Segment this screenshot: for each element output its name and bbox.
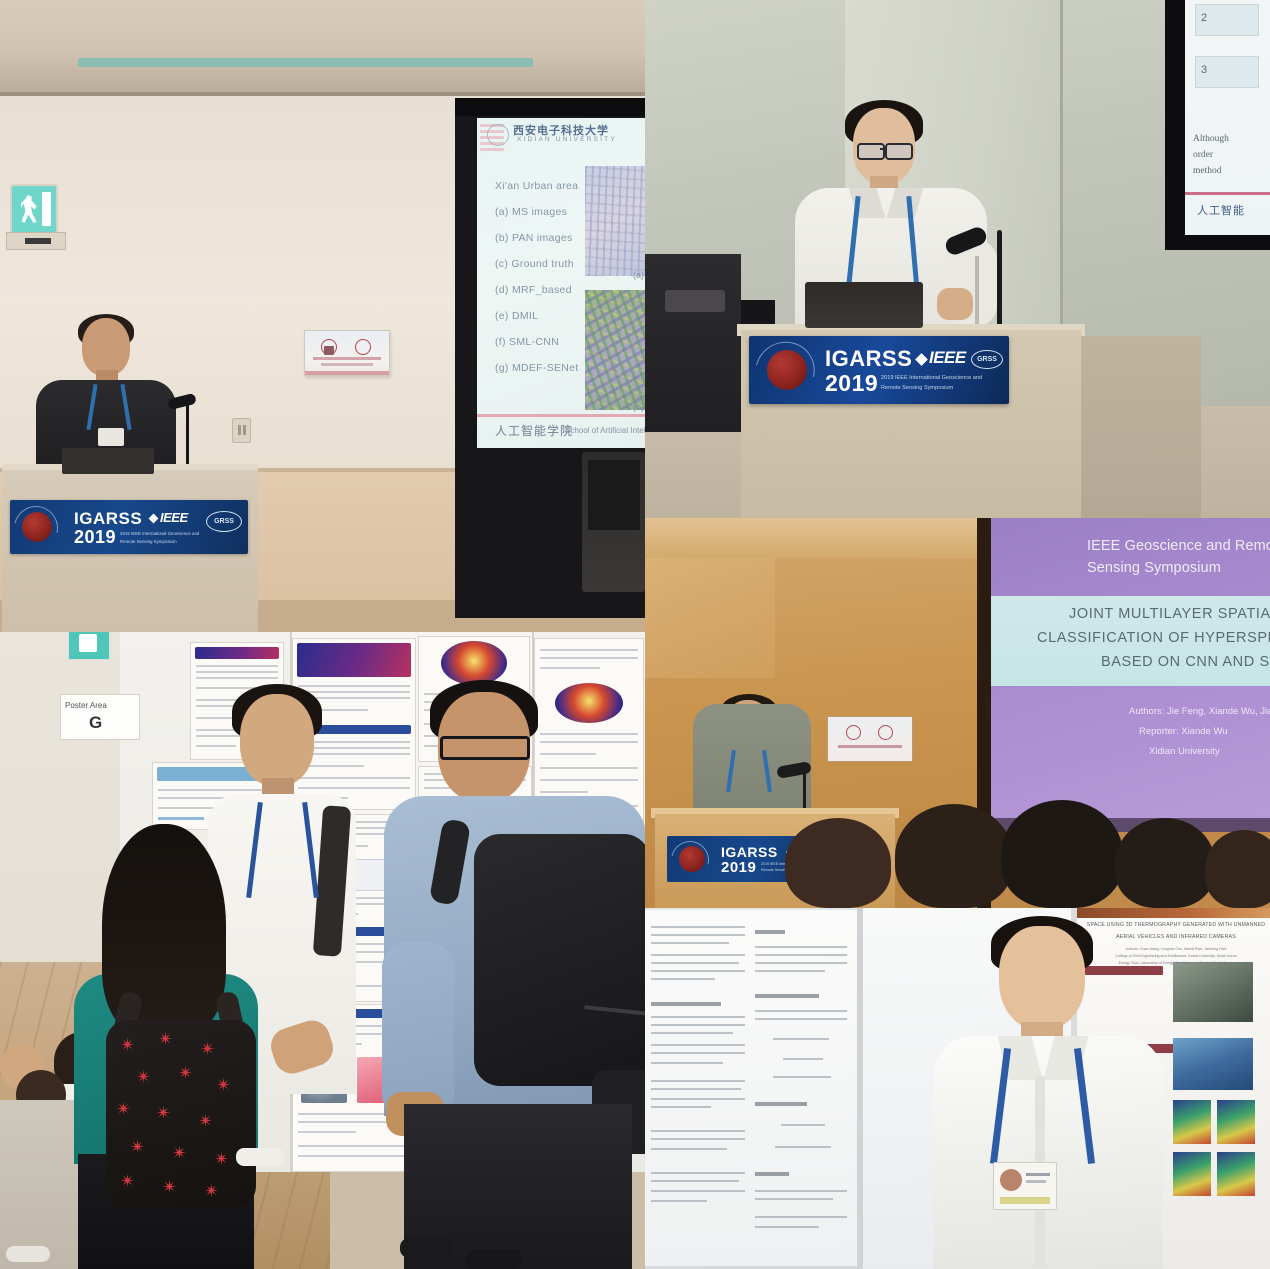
slide-figure-classification-map xyxy=(585,290,645,410)
photo-collage: 西安电子科技大学 XIDIAN UNIVERSITY Xi'an Urban a… xyxy=(0,0,1270,1269)
audience-head xyxy=(1205,830,1270,908)
speaker-hand xyxy=(937,288,973,320)
speaker-head xyxy=(82,318,130,376)
slide-reporter: Reporter: Xiande Wu xyxy=(1139,726,1228,737)
audience-head xyxy=(895,804,1013,908)
poster-area-letter: G xyxy=(89,713,102,733)
exit-door-shape xyxy=(42,192,51,226)
notice-text-line-1 xyxy=(313,357,381,360)
poster-area-label: Poster Area xyxy=(65,701,107,710)
panel-mid-right: IEEE Geoscience and Remote Sensing Sympo… xyxy=(645,518,1270,908)
slide-figure-ms-image xyxy=(585,166,645,276)
panel-top-left: 西安电子科技大学 XIDIAN UNIVERSITY Xi'an Urban a… xyxy=(0,0,645,632)
slide-title-line-3: BASED ON CNN AND SVM xyxy=(1101,654,1270,670)
slide-item-g: (g) MDEF-SENet xyxy=(495,362,579,374)
running-person-glyph xyxy=(21,195,38,223)
nameplate-text-bar xyxy=(25,238,51,244)
badge-name-line xyxy=(1026,1173,1050,1176)
igarss-swirl-icon xyxy=(667,836,716,882)
poster-figure-thermal-3 xyxy=(1173,1152,1211,1196)
slide-paragraph-line-1: Although xyxy=(1193,134,1229,144)
badge-affiliation-line xyxy=(1026,1180,1046,1183)
emergency-exit-icon xyxy=(68,632,110,660)
slide-header-line-2: Sensing Symposium xyxy=(1087,560,1221,576)
poster-left xyxy=(645,910,857,1266)
igarss-wordmark: IGARSS xyxy=(825,346,912,372)
wall-notice-sign xyxy=(304,330,390,376)
slide-item-c: (c) Ground truth xyxy=(495,258,574,270)
slide-header-line-1: IEEE Geoscience and Remote xyxy=(1087,538,1270,554)
igarss-wordmark: IGARSS xyxy=(721,844,778,860)
panel-bottom-left: Poster Area G xyxy=(0,632,645,1269)
backpack-zipper xyxy=(584,1005,645,1023)
wall-notice-sign xyxy=(827,716,913,762)
ieee-diamond-icon xyxy=(915,353,928,366)
presentation-slide: IEEE Geoscience and Remote Sensing Sympo… xyxy=(991,518,1270,818)
presenter-head xyxy=(999,926,1085,1030)
ieee-logo: IEEE xyxy=(160,510,188,525)
eyeglasses-bridge xyxy=(880,148,886,150)
igarss-swirl-icon xyxy=(749,336,826,404)
slide-paragraph-line-2: order xyxy=(1193,150,1213,160)
wall-edge xyxy=(1060,0,1063,335)
no-photography-icon xyxy=(846,725,861,740)
badge-photo xyxy=(1000,1169,1022,1191)
poster-figure-thermal-2 xyxy=(1217,1100,1255,1144)
slide-figure-label-b: (b) xyxy=(633,402,644,412)
backpack xyxy=(474,834,645,1086)
poster-figure-thermal-4 xyxy=(1217,1152,1255,1196)
slide-title-line-2: CLASSIFICATION OF HYPERSPECTRAL IMAGE xyxy=(1037,630,1270,646)
slide-heading: Xi'an Urban area xyxy=(495,180,578,192)
slide-item-e: (e) DMIL xyxy=(495,310,538,322)
ieee-logo: IEEE xyxy=(929,348,966,368)
slide-row-number-2: 3 xyxy=(1201,64,1207,76)
panel-bottom-right: SPACE USING 3D THERMOGRAPHY GENERATED WI… xyxy=(645,908,1270,1269)
notice-text-bar xyxy=(838,745,902,748)
shoe xyxy=(236,1148,284,1166)
slide-affiliation: Xidian University xyxy=(1149,746,1220,757)
igarss-year: 2019 xyxy=(825,370,878,397)
audience-head xyxy=(1001,800,1123,908)
slide-university-en: XIDIAN UNIVERSITY xyxy=(517,136,641,143)
audience-head xyxy=(785,818,891,908)
poster-top-bar xyxy=(1077,908,1270,918)
igarss-subtitle-2: Remote Sensing Symposium xyxy=(881,385,985,391)
presentation-slide: 2 3 Although order method 人工智能 xyxy=(1185,0,1270,235)
attendee-badge xyxy=(993,1162,1057,1210)
audience-head xyxy=(1115,818,1215,908)
igarss-subtitle-2: Remote Sensing Symposium xyxy=(120,539,200,544)
igarss-banner: IGARSS 2019 2019 IEEE International Geos… xyxy=(749,336,1009,404)
slide-figure-label-a: (a) xyxy=(633,270,644,280)
star-backpack: ✴ ✴ ✴ ✴ ✴ ✴ ✴ ✴ ✴ ✴ ✴ ✴ ✴ ✴ ✴ xyxy=(106,1020,256,1208)
emergency-exit-icon xyxy=(10,184,58,234)
ceiling xyxy=(0,0,645,96)
no-photography-icon xyxy=(321,339,337,355)
slide-row-number-1: 2 xyxy=(1201,12,1207,24)
screen-top-bar xyxy=(455,98,645,116)
slide-item-f: (f) SML-CNN xyxy=(495,336,559,348)
poster-column-left xyxy=(651,916,747,1260)
panel-top-right: 2 3 Although order method 人工智能 xyxy=(645,0,1270,518)
poster-area-sign: Poster Area G xyxy=(60,694,140,740)
slide-title-line-1: JOINT MULTILAYER SPATIAL-SPECTRAL xyxy=(1069,606,1270,622)
ieee-diamond-icon xyxy=(149,514,159,524)
poster-figure-thermal-1 xyxy=(1173,1100,1211,1144)
av-equipment-device xyxy=(665,290,725,312)
no-smoking-icon xyxy=(355,339,371,355)
grss-logo: GRSS xyxy=(206,511,242,532)
ceiling-strip xyxy=(78,58,533,67)
slide-item-a: (a) MS images xyxy=(495,206,567,218)
shoe xyxy=(6,1246,50,1262)
badge xyxy=(98,428,124,446)
presenter-figure xyxy=(933,926,1163,1269)
igarss-year: 2019 xyxy=(74,527,116,548)
laptop xyxy=(62,448,154,474)
igarss-year: 2019 xyxy=(721,859,756,876)
presentation-slide: 西安电子科技大学 XIDIAN UNIVERSITY Xi'an Urban a… xyxy=(477,118,645,448)
university-logo-icon xyxy=(487,124,509,146)
slide-item-b: (b) PAN images xyxy=(495,232,573,244)
igarss-banner: IGARSS 2019 2019 IEEE International Geos… xyxy=(10,500,248,554)
grss-logo: GRSS xyxy=(971,350,1003,369)
shoe xyxy=(400,1238,454,1258)
slide-footer-en: School of Artificial Intelligence xyxy=(565,426,645,435)
monitor-screen xyxy=(588,460,640,530)
poster-figure-uav xyxy=(1173,1038,1253,1090)
exit-nameplate xyxy=(6,232,66,250)
ceiling xyxy=(645,518,985,558)
eyeglasses-right-lens xyxy=(885,143,913,160)
laptop xyxy=(805,282,923,328)
attendee-figure-blue xyxy=(382,692,645,1269)
slide-item-d: (d) MRF_based xyxy=(495,284,572,296)
side-monitor xyxy=(582,452,645,592)
slide-footer-cn: 人工智能 xyxy=(1197,202,1245,218)
av-equipment-rack xyxy=(645,254,741,432)
igarss-subtitle-1: 2019 IEEE International Geoscience and xyxy=(120,531,200,536)
shoe xyxy=(466,1250,522,1269)
poster-figure-photo xyxy=(1173,962,1253,1022)
igarss-wordmark: IGARSS xyxy=(74,509,142,529)
podium-side xyxy=(1081,336,1201,518)
igarss-swirl-icon xyxy=(10,500,66,554)
slide-paragraph-line-3: method xyxy=(1193,166,1222,176)
badge-color-band xyxy=(1000,1197,1050,1204)
slide-footer-rule xyxy=(477,414,645,417)
slide-authors: Authors: Jie Feng, Xiande Wu, Jiao Liche… xyxy=(1129,706,1270,717)
wall-outlet xyxy=(232,418,251,443)
no-smoking-icon xyxy=(878,725,893,740)
slide-footer-rule xyxy=(1185,192,1270,195)
eyeglasses-left-lens xyxy=(857,143,885,160)
presenter-head xyxy=(240,694,314,786)
igarss-subtitle-1: 2019 IEEE International Geoscience and xyxy=(881,375,985,381)
slide-footer-cn: 人工智能学院 xyxy=(495,422,573,439)
eyeglasses xyxy=(440,736,530,760)
notice-bottom-bar xyxy=(305,371,389,375)
poster-column-right xyxy=(755,916,851,1260)
notice-text-line-2 xyxy=(321,363,373,366)
attendee-figure-teal: ✴ ✴ ✴ ✴ ✴ ✴ ✴ ✴ ✴ ✴ ✴ ✴ ✴ ✴ ✴ xyxy=(60,824,270,1269)
